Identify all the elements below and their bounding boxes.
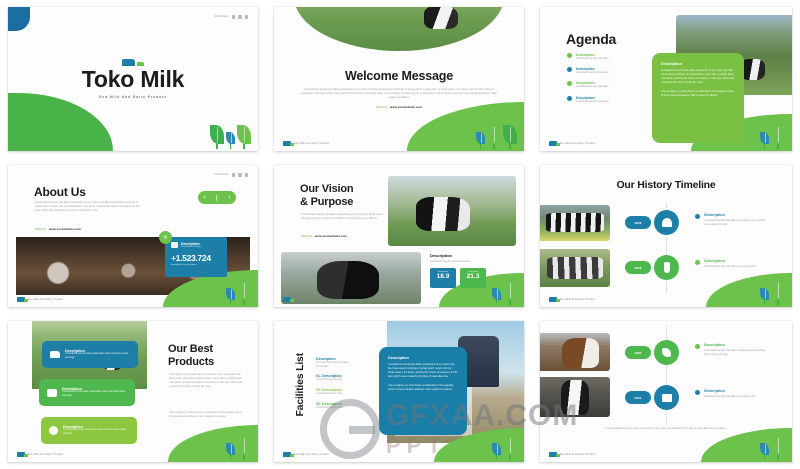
agenda-item[interactable]: Description A wonderful serenity has tak… [567, 96, 609, 104]
cow-icon [122, 59, 135, 66]
agenda-title: Agenda [566, 31, 616, 47]
social-media-label: Social Media [214, 173, 228, 176]
timeline-year-pill: 2021 [625, 391, 651, 404]
timeline-body: A wonderful serenity has taken possessio… [704, 219, 768, 226]
stat-card-sub: A wonderful serenity [181, 246, 201, 248]
timeline-label: Description [704, 343, 768, 347]
agenda-item-body: A wonderful serenity has taken [576, 57, 609, 61]
slide-facilities-list[interactable]: Facilities List Description A wonderful … [274, 321, 524, 462]
stat-card-value: +1.523.724 [171, 253, 221, 263]
bullet-icon [695, 214, 700, 219]
slide-footer: Eco Milk And Dairy Product [283, 141, 329, 146]
visit-label: Visit Us [35, 227, 46, 231]
card-paragraph-2: I am so happy, my dear friend, so absorb… [388, 384, 458, 392]
slide-agenda[interactable]: Agenda Description A wonderful serenity … [540, 7, 792, 151]
herd-photo [540, 249, 610, 287]
cover-title: Toko Milk [8, 68, 258, 91]
facility-body: A wonderful serenity has [316, 406, 358, 410]
timeline-label: Description [704, 389, 762, 393]
tree-decoration [760, 281, 785, 305]
facilities-blue-card: Description A wonderful serenity has tak… [379, 347, 467, 435]
products-title-line2: Products [168, 356, 214, 368]
barn-icon [654, 210, 679, 235]
about-visit[interactable]: Visit Uswww.yourwebsite.com [35, 227, 81, 231]
factory-icon [654, 385, 679, 410]
vision-title-line2: & Purpose [300, 196, 353, 208]
milk-can-icon [49, 426, 58, 435]
visit-label: Visit Us [301, 234, 312, 238]
bullet-icon [695, 344, 700, 349]
facility-body: A wonderful serenity has taken possessio… [316, 361, 358, 368]
slide-footer: Eco Milk And Dairy Product [283, 452, 329, 457]
slide-cell-vision[interactable]: Our Vision & Purpose A wonderful serenit… [266, 158, 532, 314]
slide-about-us[interactable]: Social Media About Us A wonderful sereni… [8, 165, 258, 307]
tree-decoration [760, 125, 785, 149]
timeline-year-pill: 2018 [625, 216, 651, 229]
timeline-body: A wonderful serenity has taken possessio… [704, 395, 762, 399]
bullet-icon [695, 260, 700, 265]
timeline-year-pill: 2019 [625, 261, 651, 274]
facebook-icon[interactable] [232, 15, 236, 19]
about-body: A wonderful serenity has taken possessio… [35, 201, 140, 213]
vision-visit[interactable]: Visit Uswww.yourwebsite.com [301, 234, 347, 238]
slide-footer: Eco Milk And Dairy Product [283, 297, 329, 302]
nav-divider [216, 195, 217, 201]
timeline-year: 2021 [635, 396, 642, 400]
vision-desc-body: A wonderful serenity taken possession [430, 260, 494, 264]
products-title-line1: Our Best [168, 343, 213, 355]
product-card-body: A wonderful serenity taken possession en… [62, 391, 127, 398]
slide-vision[interactable]: Our Vision & Purpose A wonderful serenit… [274, 165, 524, 307]
timeline-year: 2018 [635, 221, 642, 225]
footer-text: Eco Milk And Dairy Product [294, 298, 329, 301]
slide-cell-welcome[interactable]: Welcome Message A wonderful serenity has… [266, 0, 532, 158]
cows-field-photo [388, 176, 516, 246]
brand-cow-icon [549, 297, 557, 302]
brand-cow-icon [17, 297, 25, 302]
facility-body: A wonderful serenity has [316, 392, 358, 396]
vision-body: A wonderful serenity has taken possessio… [301, 213, 383, 221]
twitter-icon[interactable] [238, 173, 242, 177]
card-paragraph-1: A wonderful serenity has taken possessio… [388, 363, 458, 380]
agenda-item[interactable]: Description A wonderful serenity has tak… [567, 53, 609, 61]
products-paragraph-1: A wonderful serenity has taken possessio… [169, 373, 243, 389]
footer-text: Eco Milk And Dairy Product [294, 453, 329, 456]
cow-icon [50, 351, 60, 358]
facilities-title: Facilities List [294, 353, 306, 417]
timeline-body: A wonderful serenity has taken possessio… [704, 265, 762, 269]
close-icon: ✕ [163, 234, 168, 241]
slide-cell-history-2[interactable]: 2020 Description A wonderful serenity ha… [532, 314, 800, 469]
stall-cow-photo [540, 377, 610, 417]
timeline-body: A wonderful serenity has taken possessio… [704, 349, 768, 356]
vision-title-line1: Our Vision [300, 183, 353, 195]
twitter-icon[interactable] [238, 15, 242, 19]
tree-decoration [492, 281, 517, 305]
timeline-label: Description [704, 259, 762, 263]
slide-cover[interactable]: Social Media Toko Milk Eco Milk And Dair… [8, 7, 258, 151]
product-card[interactable]: Description A wonderful serenity taken p… [41, 417, 137, 444]
carousel-prev-button[interactable]: ‹ [203, 194, 205, 201]
website-link[interactable]: www.yourwebsite.com [49, 227, 81, 231]
agenda-item[interactable]: Description A wonderful serenity has tak… [567, 81, 609, 89]
herd-photo [540, 205, 610, 241]
stat-card-caption: A wonderful serenity taken [171, 264, 221, 266]
stat-box: Description 21.3 [460, 268, 486, 288]
footer-text: Eco Milk And Dairy Product [28, 298, 63, 301]
facility-item[interactable]: 01. Description A wonderful serenity has [316, 374, 358, 382]
bullet-icon [567, 53, 572, 58]
product-card-body: A wonderful serenity taken possession en… [63, 429, 129, 436]
product-card[interactable]: Description A wonderful serenity taken p… [42, 341, 138, 368]
agenda-green-card: Description A wonderful serenity has tak… [652, 53, 744, 143]
footer-text: Eco Milk And Dairy Product [560, 142, 595, 145]
slide-thumbnail-grid: Social Media Toko Milk Eco Milk And Dair… [0, 0, 800, 469]
timeline-label: Description [704, 213, 768, 217]
corner-accent [8, 7, 30, 31]
website-link[interactable]: www.yourwebsite.com [315, 234, 347, 238]
product-card[interactable]: Description A wonderful serenity taken p… [39, 379, 135, 406]
brand-cow-icon [283, 452, 291, 457]
slide-footer: Eco Milk And Dairy Product [549, 297, 595, 302]
agenda-item-body: A wonderful serenity has taken [576, 71, 609, 75]
slide-footer: Eco Milk And Dairy Product [549, 452, 595, 457]
bullet-icon [567, 67, 572, 72]
slide-cell-about-us[interactable]: Social Media About Us A wonderful sereni… [0, 158, 266, 314]
footer-text: Eco Milk And Dairy Product [560, 453, 595, 456]
farm-icon [47, 389, 57, 397]
agenda-item-body: A wonderful serenity has taken [576, 85, 609, 89]
instagram-icon[interactable] [245, 15, 249, 19]
tree-decoration [476, 125, 517, 149]
stat-box: Description 18.9 [430, 268, 456, 288]
slide-footer: Eco Milk And Dairy Product [17, 297, 63, 302]
tree-decoration [226, 436, 251, 460]
card-paragraph-1: A wonderful serenity has taken possessio… [661, 69, 735, 86]
timeline-year: 2020 [635, 351, 642, 355]
slide-welcome[interactable]: Welcome Message A wonderful serenity has… [274, 7, 524, 151]
welcome-visit[interactable]: Visit Uswww.yourwebsite.com [299, 105, 499, 109]
close-badge[interactable]: ✕ [159, 231, 172, 244]
group-icon [171, 242, 178, 248]
slide-cell-facilities[interactable]: Facilities List Description A wonderful … [266, 314, 532, 469]
tree-decoration [760, 436, 785, 460]
facility-item[interactable]: Description A wonderful serenity has tak… [316, 357, 358, 368]
website-link[interactable]: www.yourwebsite.com [390, 105, 422, 109]
agenda-item-body: A wonderful serenity has taken [576, 100, 609, 104]
vision-desc-label: Description [430, 253, 494, 258]
brand-cow-icon [549, 141, 557, 146]
brown-cow-photo [540, 333, 610, 371]
slide-best-products[interactable]: Description A wonderful serenity taken p… [8, 321, 258, 462]
visit-label: Visit Us [376, 105, 387, 109]
footer-text: Eco Milk And Dairy Product [560, 298, 595, 301]
welcome-title: Welcome Message [299, 69, 499, 83]
tree-decoration [226, 281, 251, 305]
hill-decoration [8, 93, 113, 151]
bullet-icon [695, 390, 700, 395]
card-paragraph-2: I am so happy, my dear friend, so absorb… [661, 90, 735, 98]
footer-text: Eco Milk And Dairy Product [28, 453, 63, 456]
facebook-icon[interactable] [232, 173, 236, 177]
bullet-icon [567, 96, 572, 101]
slide-history-timeline-2[interactable]: 2020 Description A wonderful serenity ha… [540, 321, 792, 462]
milk-bottle-icon [654, 255, 679, 280]
facility-body: A wonderful serenity has [316, 378, 358, 382]
timeline-year-pill: 2020 [625, 346, 651, 359]
instagram-icon[interactable] [245, 173, 249, 177]
social-media-group[interactable]: Social Media [214, 173, 248, 177]
brand-cow-icon [283, 141, 291, 146]
history-title: Our History Timeline [540, 179, 792, 191]
brand-cow-icon [17, 452, 25, 457]
slide-cell-best-products[interactable]: Description A wonderful serenity taken p… [0, 314, 266, 469]
carousel-next-button[interactable]: › [228, 194, 230, 201]
history-footnote: A wonderful serenity has taken possessio… [590, 427, 742, 431]
carousel-nav[interactable]: ‹ › [198, 191, 236, 204]
slide-footer: Eco Milk And Dairy Product [549, 141, 595, 146]
tree-decoration [492, 436, 517, 460]
slide-history-timeline[interactable]: Our History Timeline 2018 Description A … [540, 165, 792, 307]
slide-cell-history[interactable]: Our History Timeline 2018 Description A … [532, 158, 800, 314]
footer-text: Eco Milk And Dairy Product [294, 142, 329, 145]
stat-box-value: 21.3 [460, 273, 486, 281]
products-paragraph-2: I am so happy, my dear friend, so absorb… [169, 411, 243, 419]
stat-card: Description A wonderful serenity +1.523.… [165, 237, 227, 277]
tree-decoration [210, 125, 251, 149]
slide-footer: Eco Milk And Dairy Product [17, 452, 63, 457]
brand-cow-icon [283, 297, 291, 302]
social-media-group[interactable]: Social Media [214, 15, 248, 19]
card-label: Description [388, 356, 458, 360]
agenda-item[interactable]: Description A wonderful serenity has tak… [567, 67, 609, 75]
social-media-label: Social Media [214, 15, 228, 18]
welcome-body: A wonderful serenity has taken possessio… [299, 88, 499, 100]
facility-item[interactable]: 03. Description A wonderful serenity has [316, 402, 358, 410]
card-label: Description [661, 62, 735, 66]
product-card-body: A wonderful serenity taken possession en… [65, 353, 130, 360]
stat-box-value: 18.9 [430, 273, 456, 281]
slide-cell-cover[interactable]: Social Media Toko Milk Eco Milk And Dair… [0, 0, 266, 158]
pasture-photo [294, 7, 504, 51]
cover-subtitle: Eco Milk And Dairy Product [8, 95, 258, 99]
timeline-year: 2019 [635, 266, 642, 270]
bullet-icon [567, 81, 572, 86]
facility-item[interactable]: 02. Description A wonderful serenity has [316, 388, 358, 396]
brand-cow-icon [549, 452, 557, 457]
about-title: About Us [34, 185, 86, 199]
milk-can-icon [654, 340, 679, 365]
slide-cell-agenda[interactable]: Agenda Description A wonderful serenity … [532, 0, 800, 158]
